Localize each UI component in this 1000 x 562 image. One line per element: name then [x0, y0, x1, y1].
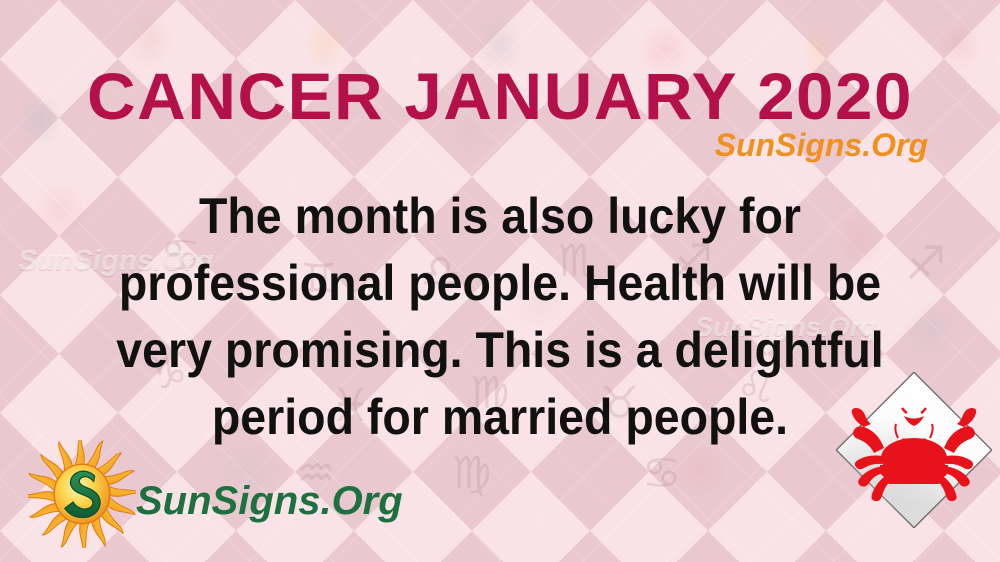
header-brand-label: SunSigns.Org [715, 128, 928, 162]
horoscope-text-line: professional people. Health will be [82, 250, 919, 317]
sun-with-s-icon [28, 440, 136, 548]
logo-wordmark: SunSigns.Org [136, 481, 403, 521]
horoscope-text-line: very promising. This is a delightful [82, 317, 919, 384]
horoscope-banner: ♋♊♎♏♐♐♑♓♍♉♌♒♍♋ SunSigns.Org SunSigns.Org… [0, 0, 1000, 562]
horoscope-text-line: The month is also lucky for [82, 183, 919, 250]
horoscope-text: The month is also lucky for professional… [82, 183, 919, 451]
gemini-glyph: ♋ [642, 452, 681, 496]
site-logo[interactable]: SunSigns.Org [28, 440, 403, 548]
cancer-crab-emblem [836, 372, 992, 528]
virgo-glyph: ♍ [452, 452, 491, 496]
page-title: CANCER JANUARY 2020 [0, 58, 1000, 134]
